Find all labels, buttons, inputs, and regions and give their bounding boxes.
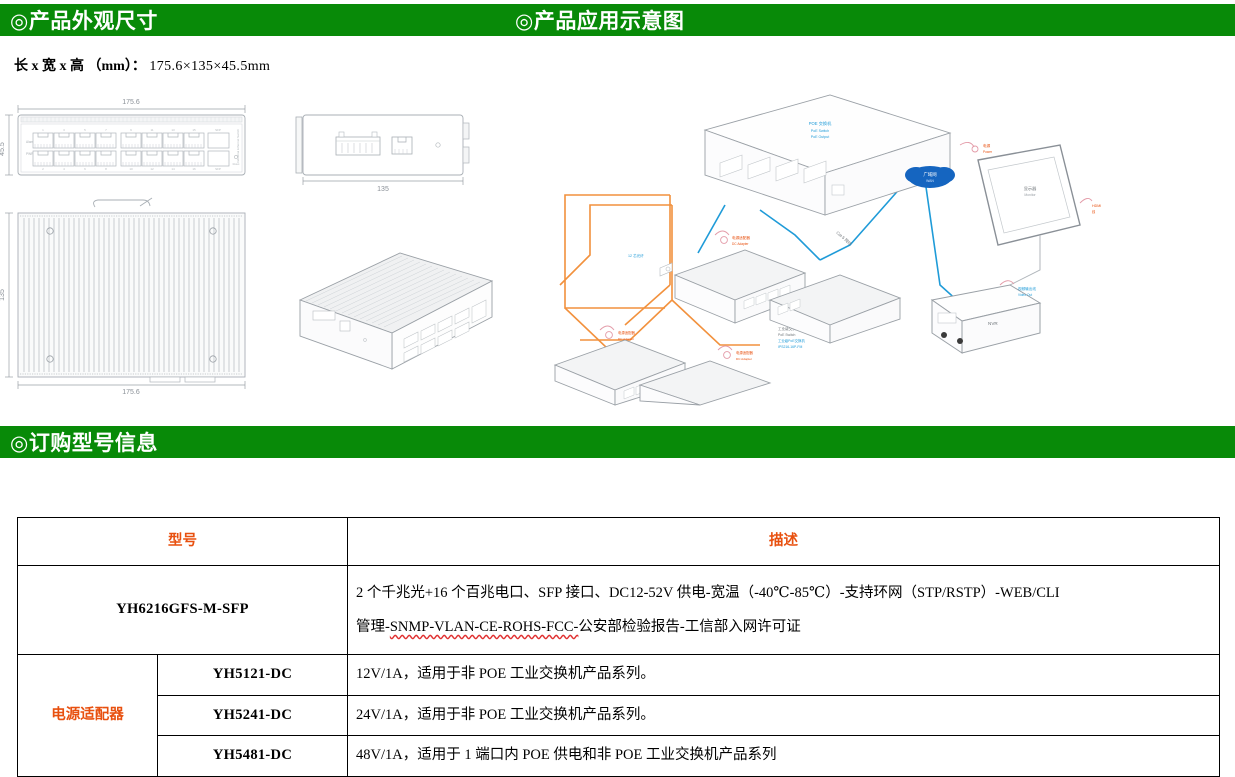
dimension-value: 175.6×135×45.5mm bbox=[149, 59, 270, 74]
header-model: 型号 bbox=[18, 518, 348, 566]
cell-model-main: YH6216GFS-M-SFP bbox=[18, 566, 348, 655]
product-datasheet-page: ◎产品外观尺寸 ◎产品应用示意图 长 x 宽 x 高 （mm）： 175.6×1… bbox=[0, 0, 1235, 769]
mechanical-drawings: 175.6 45.5 bbox=[0, 85, 520, 405]
top-depth-dim: 135 bbox=[0, 289, 6, 301]
dimension-label: 长 x 宽 x 高 （mm）： bbox=[14, 59, 146, 74]
svg-text:15: 15 bbox=[192, 128, 196, 132]
top-view-drawing: 135 175.6 bbox=[0, 198, 245, 396]
svg-text:线: 线 bbox=[1092, 209, 1096, 214]
cell-desc-main: 2 个千兆光+16 个百兆电口、SFP 接口、DC12-52V 供电-宽温（-4… bbox=[348, 566, 1220, 655]
top-width-dim: 175.6 bbox=[122, 389, 140, 396]
monitor-node: 显示器 Monitor bbox=[978, 145, 1080, 290]
section-header-bar-ordering: ◎订购型号信息 bbox=[0, 426, 1235, 458]
svg-text:16: 16 bbox=[192, 167, 196, 171]
section-title-ordering: ◎订购型号信息 bbox=[10, 427, 158, 457]
svg-text:视频输出线: 视频输出线 bbox=[1018, 286, 1036, 291]
rear-view-drawing: 135 bbox=[296, 115, 469, 193]
cell-model-adapter-2: YH5241-DC bbox=[158, 695, 348, 736]
header-description: 描述 bbox=[348, 518, 1220, 566]
svg-text:SFP: SFP bbox=[215, 128, 221, 132]
front-width-dim: 175.6 bbox=[122, 99, 140, 106]
table-row-adapter-3: YH5481-DC 48V/1A，适用于 1 端口内 POE 供电和非 POE … bbox=[18, 736, 1220, 777]
power-adapter-icon-2: 电源适配器 DC Adapter bbox=[715, 231, 750, 246]
front-view-drawing: 175.6 45.5 bbox=[0, 99, 245, 175]
cat5-link-label: Cat-5 网线 bbox=[835, 229, 853, 246]
isometric-view-drawing bbox=[300, 253, 492, 369]
rear-width-dim: 135 bbox=[377, 186, 389, 193]
svg-text:Video Out: Video Out bbox=[1018, 293, 1032, 297]
svg-text:10: 10 bbox=[129, 167, 133, 171]
cell-model-adapter-3: YH5481-DC bbox=[158, 736, 348, 777]
table-row-main-product: YH6216GFS-M-SFP 2 个千兆光+16 个百兆电口、SFP 接口、D… bbox=[18, 566, 1220, 655]
desc-line-1: 2 个千兆光+16 个百兆电口、SFP 接口、DC12-52V 供电-宽温（-4… bbox=[356, 585, 1060, 601]
svg-text:电源: 电源 bbox=[983, 143, 991, 148]
svg-text:SFP: SFP bbox=[215, 167, 221, 171]
svg-text:电源适配器: 电源适配器 bbox=[736, 350, 754, 355]
switch1-label-line2: PoE Switch bbox=[778, 333, 795, 337]
table-header-row: 型号 描述 bbox=[18, 518, 1220, 566]
hdmi-link-label: HDMI 线 bbox=[1080, 198, 1101, 214]
topology-svg: POE 交换机 PoE Switch PoE Output 电源 Power 广… bbox=[520, 85, 1220, 405]
nvr-label: NVR bbox=[988, 321, 998, 326]
power-adapter-icon-3: 电源适配器 DC Adapter bbox=[600, 326, 636, 341]
wan-cloud-label-en: WAN bbox=[926, 179, 934, 183]
monitor-label-en: Monitor bbox=[1024, 193, 1036, 197]
desc-line-2-wavy: SNMP-VLAN-CE-ROHS-FCC- bbox=[390, 619, 579, 635]
svg-text:电源适配器: 电源适配器 bbox=[618, 330, 636, 335]
svg-text:11: 11 bbox=[150, 128, 153, 132]
poe-switch-label-cn: POE 交换机 bbox=[809, 120, 832, 127]
poe-switch-label-en: PoE Switch bbox=[811, 129, 829, 133]
desc-line-2-post: 公安部检验报告-工信部入网许可证 bbox=[578, 619, 800, 635]
front-height-dim: 45.5 bbox=[0, 142, 6, 156]
svg-text:Power: Power bbox=[983, 150, 993, 154]
console-port bbox=[392, 137, 412, 154]
section-title-dimensions: ◎产品外观尺寸 bbox=[10, 5, 158, 35]
table-row-adapter-2: YH5241-DC 24V/1A，适用于非 POE 工业交换机产品系列。 bbox=[18, 695, 1220, 736]
svg-text:13: 13 bbox=[171, 128, 175, 132]
power-adapter-icon-4: 电源适配器 DC Adapter bbox=[718, 346, 754, 361]
table-row-adapter-1: 电源适配器 YH5121-DC 12V/1A，适用于非 POE 工业交换机产品系… bbox=[18, 655, 1220, 696]
brand-side-text: Industrial Ethernet Switch bbox=[236, 129, 240, 163]
section-header-bar-top: ◎产品外观尺寸 ◎产品应用示意图 bbox=[0, 4, 1235, 36]
wan-cloud-label-cn: 广域网 bbox=[923, 171, 937, 178]
svg-text:14: 14 bbox=[171, 167, 175, 171]
cell-desc-adapter-1: 12V/1A，适用于非 POE 工业交换机产品系列。 bbox=[348, 655, 1220, 696]
drawings-svg: 175.6 45.5 bbox=[0, 85, 520, 405]
cell-desc-adapter-3: 48V/1A，适用于 1 端口内 POE 供电和非 POE 工业交换机产品系列 bbox=[348, 736, 1220, 777]
poe-nvr-switch-node: POE 交换机 PoE Switch PoE Output bbox=[705, 95, 950, 215]
svg-text:电源适配器: 电源适配器 bbox=[732, 235, 750, 240]
power-adapter-icon-1: 电源 Power bbox=[960, 142, 993, 154]
switch1-label-line4: IPS216-16P-FM bbox=[778, 345, 802, 349]
svg-text:HDMI: HDMI bbox=[1092, 204, 1101, 208]
cell-desc-adapter-2: 24V/1A，适用于非 POE 工业交换机产品系列。 bbox=[348, 695, 1220, 736]
svg-text:12 芯光纤: 12 芯光纤 bbox=[628, 253, 644, 258]
application-topology-diagram: POE 交换机 PoE Switch PoE Output 电源 Power 广… bbox=[520, 85, 1220, 405]
svg-text:12: 12 bbox=[150, 167, 154, 171]
dimension-line: 长 x 宽 x 高 （mm）： 175.6×135×45.5mm bbox=[14, 55, 270, 75]
section-title-application: ◎产品应用示意图 bbox=[515, 5, 684, 35]
ordering-information-table: 型号 描述 YH6216GFS-M-SFP 2 个千兆光+16 个百兆电口、SF… bbox=[17, 517, 1220, 777]
fiber-link-label-1: 12 芯光纤 bbox=[628, 253, 672, 276]
svg-text:DC Adapter: DC Adapter bbox=[732, 242, 749, 246]
switch1-label-line3: 工业级PoE交换机 bbox=[778, 338, 805, 343]
cell-adapter-group-label: 电源适配器 bbox=[18, 655, 158, 777]
cell-model-adapter-1: YH5121-DC bbox=[158, 655, 348, 696]
poe-switch-label-en2: PoE Output bbox=[811, 135, 830, 139]
svg-text:DC Adapter: DC Adapter bbox=[736, 357, 752, 361]
desc-line-2-pre: 管理- bbox=[356, 619, 390, 635]
svg-text:DC Adapter: DC Adapter bbox=[618, 337, 634, 341]
